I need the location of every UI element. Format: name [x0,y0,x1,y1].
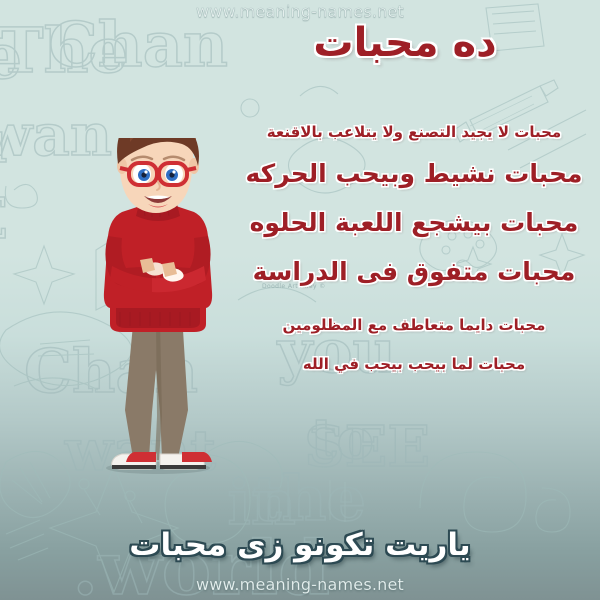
watermark-top: www.meaning-names.net [0,2,600,21]
trait-line-list: محبات لا يجيد التصنع ولا يتلاعب بالاقنعة… [236,124,592,373]
trait-line: محبات لما بيحب بيحب في الله [236,356,592,373]
text-layer: www.meaning-names.net ده محبات محبات لا … [0,0,600,600]
trait-line: محبات متفوق فى الدراسة [236,258,592,287]
trait-line: محبات بيشجع اللعبة الحلوه [236,209,592,238]
footer-wish-text: ياريت تكونو زى محبات [0,528,600,562]
trait-line: محبات دايما متعاطف مع المظلومين [236,317,592,334]
poster-canvas: Be The Chan you wan SEE Chan you want to… [0,0,600,600]
watermark-bottom: www.meaning-names.net [0,575,600,594]
page-title: ده محبات [230,22,580,64]
trait-line: محبات نشيط وبيحب الحركه [236,160,592,189]
trait-line: محبات لا يجيد التصنع ولا يتلاعب بالاقنعة [236,124,592,141]
